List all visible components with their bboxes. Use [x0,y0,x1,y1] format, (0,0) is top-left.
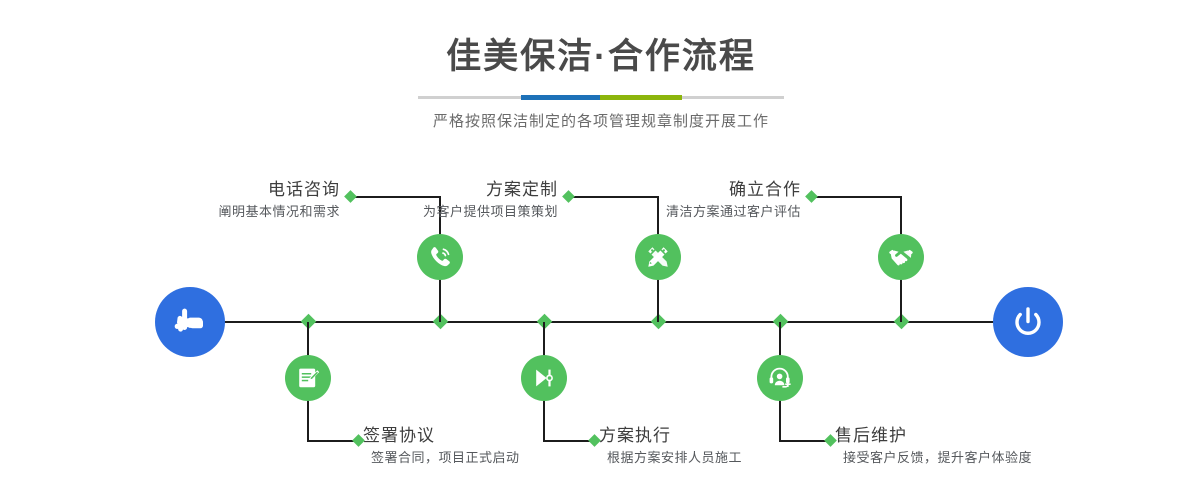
step-desc: 清洁方案通过客户评估 [561,202,801,222]
flow-start-node[interactable] [155,287,225,357]
pencil-ruler-icon [645,244,671,270]
step-icon-badge[interactable] [757,355,803,401]
label-leader-line [544,440,594,442]
step-label: 方案执行 根据方案安排人员施工 [599,424,859,468]
process-flow-diagram: 电话咨询 阐明基本情况和需求 签署协议 签署合同，项目正式启动 [0,0,1202,502]
pointing-hand-icon [170,302,210,342]
power-icon [1008,302,1048,342]
step-icon-badge[interactable] [635,234,681,280]
step-label: 签署协议 签署合同，项目正式启动 [363,424,623,468]
play-execute-icon [531,365,557,391]
phone-call-icon [427,244,453,270]
step-icon-badge[interactable] [285,355,331,401]
step-desc: 接受客户反馈，提升客户体验度 [835,448,1115,468]
step-icon-badge[interactable] [417,234,463,280]
step-icon-badge[interactable] [878,234,924,280]
step-title: 售后维护 [835,424,1115,448]
step-label: 方案定制 为客户提供项目策策划 [318,178,558,222]
label-leader-diamond [805,190,818,203]
step-title: 方案定制 [318,178,558,202]
document-sign-icon [295,365,321,391]
step-desc: 根据方案安排人员施工 [599,448,859,468]
step-icon-badge[interactable] [521,355,567,401]
step-desc: 阐明基本情况和需求 [100,202,340,222]
label-leader-line [780,440,830,442]
step-label: 电话咨询 阐明基本情况和需求 [100,178,340,222]
step-title: 签署协议 [363,424,623,448]
customer-service-icon [767,365,793,391]
step-label: 确立合作 清洁方案通过客户评估 [561,178,801,222]
flow-end-node[interactable] [993,287,1063,357]
label-leader-line [308,440,358,442]
label-leader-line [811,196,901,198]
step-desc: 为客户提供项目策策划 [318,202,558,222]
step-desc: 签署合同，项目正式启动 [363,448,623,468]
step-title: 确立合作 [561,178,801,202]
step-title: 电话咨询 [100,178,340,202]
step-title: 方案执行 [599,424,859,448]
handshake-icon [888,244,914,270]
step-label: 售后维护 接受客户反馈，提升客户体验度 [835,424,1115,468]
